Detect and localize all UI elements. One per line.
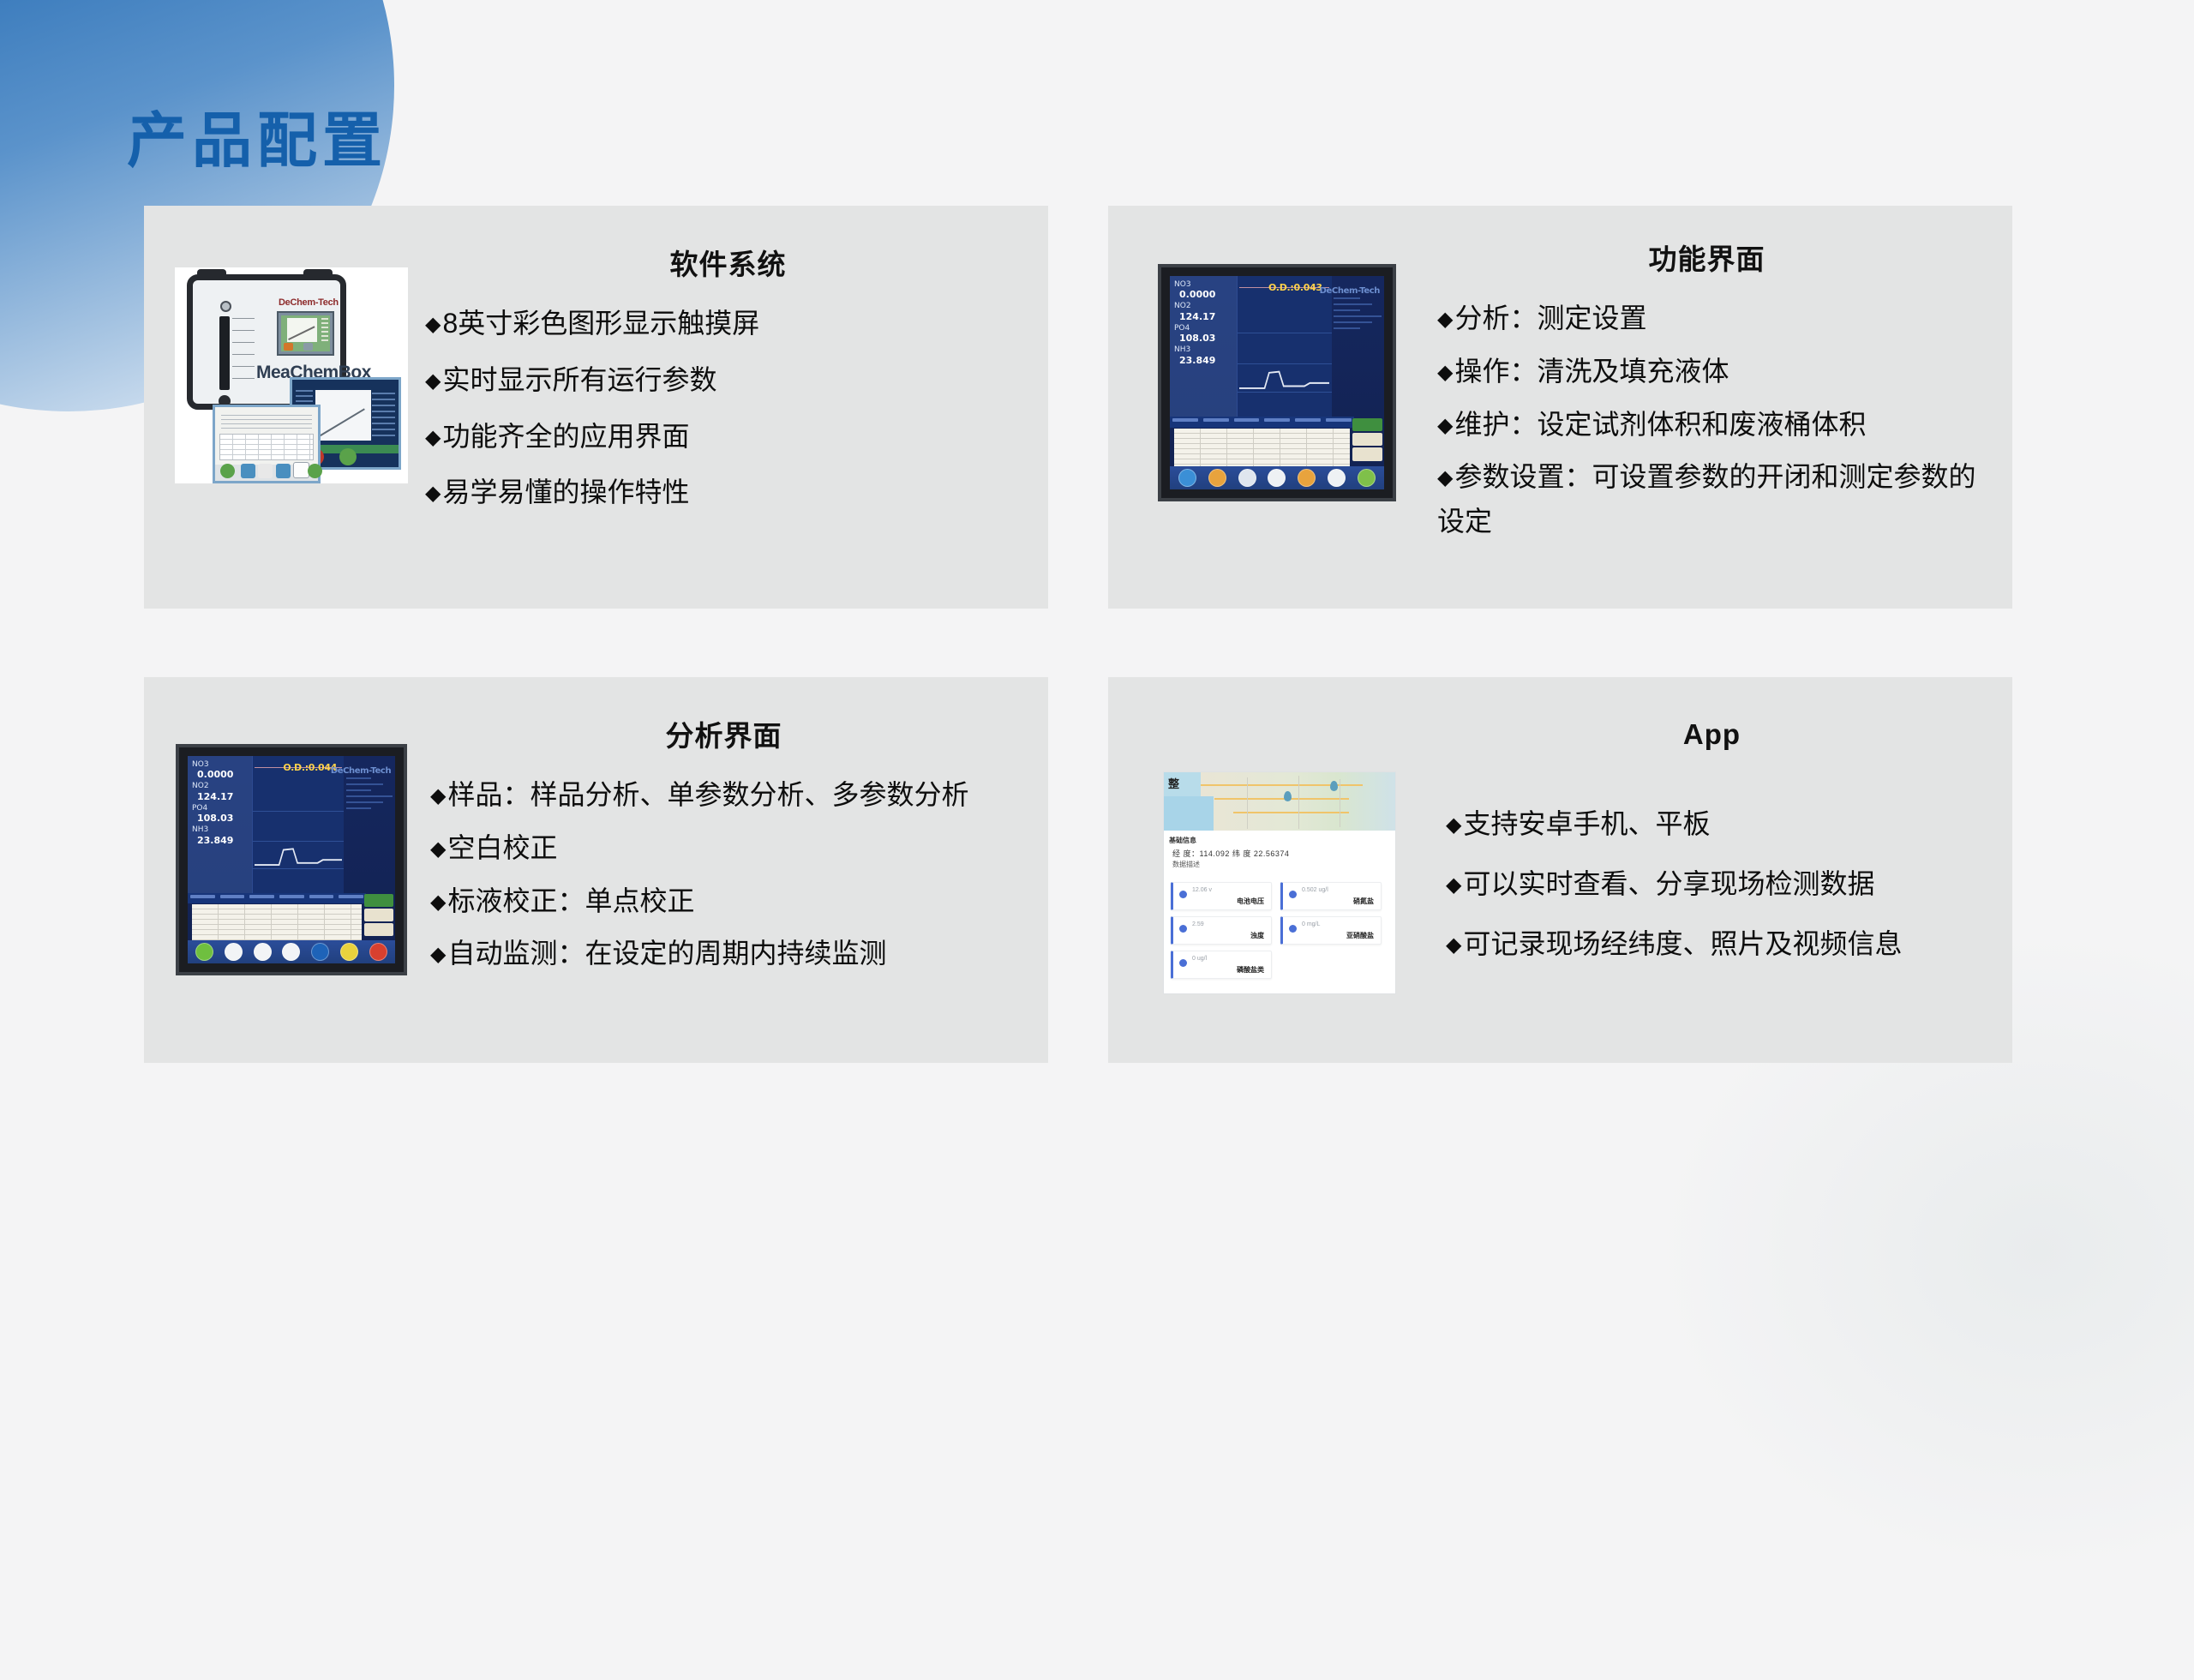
app-section-label: 基础信息 (1169, 836, 1196, 845)
bullet-list-app: ◆支持安卓手机、平板 ◆可以实时查看、分享现场检测数据 ◆可记录现场经纬度、照片… (1446, 802, 1978, 966)
bullet-diamond-icon: ◆ (1437, 466, 1453, 489)
dock-report-icon[interactable] (1238, 469, 1256, 487)
card-media-device-photo: DeChem-Tech MeaChemBox (144, 206, 420, 483)
metric-dot-icon (1289, 891, 1297, 898)
instrument-dock-bar[interactable] (1170, 466, 1384, 489)
list-item-label: 维护：设定试剂体积和废液桶体积 (1454, 409, 1866, 440)
page-title: 产品配置 (127, 111, 387, 171)
card-title-software-system: 软件系统 (451, 242, 1005, 283)
dock-settings-icon[interactable] (1298, 469, 1316, 487)
list-item-label: 标液校正：单点校正 (447, 885, 694, 916)
instrument-readings-panel: NO3 0.0000 NO2 124.17 PO4 108.03 NH3 23.… (188, 756, 252, 893)
reading-name: NH3 (1174, 346, 1237, 354)
list-item: ◆参数设置：可设置参数的开闭和测定参数的设定 (1437, 455, 1976, 544)
reading-name: PO4 (192, 805, 252, 813)
device-tick-marks (232, 318, 255, 390)
list-item: ◆样品：样品分析、单参数分析、多参数分析 (430, 773, 1017, 818)
list-item-label: 可以实时查看、分享现场检测数据 (1463, 868, 1874, 899)
bullet-diamond-icon: ◆ (430, 891, 446, 914)
card-app: 整 基础信息 经 度：114.092 纬 度 22.56374 数据描述 12.… (1108, 677, 2012, 1063)
bullet-list-software-system: ◆8英寸彩色图形显示触摸屏 ◆实时显示所有运行参数 ◆功能齐全的应用界面 ◆易学… (425, 302, 1005, 515)
dock-records-icon[interactable] (1328, 469, 1346, 487)
dock-blank-icon[interactable] (225, 943, 243, 961)
bullet-diamond-icon: ◆ (1437, 308, 1453, 331)
list-item: ◆实时显示所有运行参数 (425, 358, 1005, 403)
instrument-signal-graph (1237, 276, 1332, 417)
list-item: ◆自动监测：在设定的周期内持续监测 (430, 932, 1017, 976)
device-strip (219, 316, 230, 390)
reading-name: PO4 (1174, 325, 1237, 333)
metric-card[interactable]: 0.502 ug/l 硝氮盐 (1280, 882, 1382, 910)
instrument-side-buttons[interactable] (1352, 418, 1382, 465)
bullet-diamond-icon: ◆ (425, 426, 441, 449)
card-media-instrument-screen-analysis: NO3 0.0000 NO2 124.17 PO4 108.03 NH3 23.… (144, 677, 420, 975)
instrument-signal-graph (252, 756, 344, 893)
instrument-params-panel (1331, 276, 1385, 417)
metric-dot-icon (1179, 925, 1187, 933)
card-body-app: App ◆支持安卓手机、平板 ◆可以实时查看、分享现场检测数据 ◆可记录现场经纬… (1425, 677, 2012, 981)
app-header-label: 整 (1168, 775, 1179, 791)
instrument-table-header (1170, 417, 1354, 427)
list-item: ◆支持安卓手机、平板 (1446, 802, 1978, 847)
card-function-interface: NO3 0.0000 NO2 124.17 PO4 108.03 NH3 23.… (1108, 206, 2012, 609)
list-item-label: 实时显示所有运行参数 (442, 364, 716, 395)
card-body-analysis-interface: 分析界面 ◆样品：样品分析、单参数分析、多参数分析 ◆空白校正 ◆标液校正：单点… (420, 677, 1048, 985)
dock-play-icon[interactable] (1178, 469, 1196, 487)
reading-value: 23.849 (197, 835, 252, 846)
device-knob-icon (220, 301, 231, 312)
reading-value: 0.0000 (1179, 289, 1237, 300)
card-media-app-screenshot: 整 基础信息 经 度：114.092 纬 度 22.56374 数据描述 12.… (1108, 677, 1425, 994)
instrument-dock-bar[interactable] (188, 940, 395, 963)
bullet-diamond-icon: ◆ (1446, 813, 1461, 837)
list-item: ◆标液校正：单点校正 (430, 879, 1017, 924)
metric-value: 2.59 (1192, 921, 1204, 927)
list-item-label: 操作：清洗及填充液体 (1454, 356, 1729, 387)
metric-value: 0 mg/L (1302, 921, 1320, 927)
metric-card[interactable]: 0 mg/L 亚硝酸盐 (1280, 916, 1382, 945)
reading-name: NO3 (1174, 281, 1237, 289)
list-item-label: 参数设置：可设置参数的开闭和测定参数的设定 (1437, 461, 1975, 537)
app-screenshot: 整 基础信息 经 度：114.092 纬 度 22.56374 数据描述 12.… (1163, 771, 1396, 994)
reading-value: 23.849 (1179, 355, 1237, 366)
metric-name: 硝氮盐 (1353, 897, 1374, 906)
reading-value: 108.03 (197, 813, 252, 824)
metric-value: 0 ug/l (1192, 956, 1207, 962)
od-value-label: O.D.:0.044 (283, 762, 337, 773)
bullet-diamond-icon: ◆ (430, 837, 446, 861)
reading-name: NO3 (192, 761, 252, 769)
list-item-label: 功能齐全的应用界面 (442, 421, 689, 452)
list-item: ◆8英寸彩色图形显示触摸屏 (425, 302, 1005, 346)
list-item: ◆易学易懂的操作特性 (425, 471, 1005, 515)
app-metric-cards: 12.06 v 电池电压 0.502 ug/l 硝氮盐 2.59 浊度 (1171, 882, 1388, 979)
card-title-app: App (1446, 718, 1978, 751)
reading-name: NH3 (192, 826, 252, 834)
metric-card[interactable]: 2.59 浊度 (1171, 916, 1272, 945)
device-brand-label: DeChem-Tech (279, 297, 339, 308)
bullet-diamond-icon: ◆ (430, 784, 446, 807)
list-item: ◆可以实时查看、分享现场检测数据 (1446, 862, 1978, 907)
od-value-label: O.D.:0.043 (1268, 282, 1322, 293)
signal-curve-icon (1239, 363, 1330, 394)
reading-name: NO2 (192, 783, 252, 790)
instrument-params-panel (344, 756, 396, 893)
bullet-diamond-icon: ◆ (1437, 414, 1453, 437)
device-photo-meachembox: DeChem-Tech MeaChemBox (175, 267, 408, 483)
list-item: ◆空白校正 (430, 826, 1017, 871)
card-analysis-interface: NO3 0.0000 NO2 124.17 PO4 108.03 NH3 23.… (144, 677, 1048, 1063)
bullet-diamond-icon: ◆ (1446, 933, 1461, 957)
map-preview (1164, 772, 1395, 831)
app-coordinates-label: 经 度：114.092 纬 度 22.56374 (1172, 848, 1289, 859)
dock-start-icon[interactable] (195, 943, 213, 961)
metric-name: 磷酸盐类 (1237, 965, 1264, 975)
list-item: ◆操作：清洗及填充液体 (1437, 350, 1976, 394)
device-embedded-screen (277, 311, 334, 356)
metric-dot-icon (1289, 925, 1297, 933)
metric-name: 浊度 (1250, 931, 1264, 940)
dock-multi-param-icon[interactable] (311, 943, 329, 961)
dock-standard-icon[interactable] (254, 943, 272, 961)
card-body-function-interface: 功能界面 ◆分析：测定设置 ◆操作：清洗及填充液体 ◆维护：设定试剂体积和废液桶… (1418, 206, 2012, 553)
list-item-label: 自动监测：在设定的周期内持续监测 (447, 938, 886, 969)
list-item-label: 空白校正 (447, 832, 557, 863)
metric-dot-icon (1179, 891, 1187, 898)
bullet-list-function-interface: ◆分析：测定设置 ◆操作：清洗及填充液体 ◆维护：设定试剂体积和废液桶体积 ◆参… (1437, 297, 1976, 544)
metric-card[interactable]: 0 ug/l 磷酸盐类 (1171, 951, 1272, 979)
bullet-diamond-icon: ◆ (1446, 873, 1461, 897)
metric-dot-icon (1179, 959, 1187, 967)
device-ui-thumbnail-table (213, 405, 321, 483)
dock-sample-icon[interactable] (282, 943, 300, 961)
reading-value: 0.0000 (197, 769, 252, 780)
bullet-list-analysis-interface: ◆样品：样品分析、单参数分析、多参数分析 ◆空白校正 ◆标液校正：单点校正 ◆自… (430, 773, 1017, 976)
bullet-diamond-icon: ◆ (430, 943, 446, 966)
instrument-screen-photo-function: NO3 0.0000 NO2 124.17 PO4 108.03 NH3 23.… (1158, 264, 1396, 501)
metric-value: 12.06 v (1192, 887, 1212, 893)
instrument-table-header (188, 893, 366, 903)
app-subtitle-label: 数据描述 (1172, 860, 1200, 869)
bullet-diamond-icon: ◆ (425, 369, 441, 393)
list-item: ◆分析：测定设置 (1437, 297, 1976, 341)
list-item-label: 8英寸彩色图形显示触摸屏 (442, 308, 759, 339)
dock-maintenance-icon[interactable] (1268, 469, 1286, 487)
list-item-label: 可记录现场经纬度、照片及视频信息 (1463, 928, 1902, 959)
card-grid: DeChem-Tech MeaChemBox (144, 206, 2012, 1080)
list-item: ◆功能齐全的应用界面 (425, 415, 1005, 459)
list-item-label: 易学易懂的操作特性 (442, 477, 689, 507)
bullet-diamond-icon: ◆ (425, 482, 441, 505)
card-title-analysis-interface: 分析界面 (430, 713, 1017, 754)
instrument-results-table (192, 904, 362, 942)
metric-name: 电池电压 (1237, 897, 1264, 906)
instrument-results-table (1174, 429, 1350, 467)
list-item-label: 样品：样品分析、单参数分析、多参数分析 (447, 779, 968, 810)
signal-curve-icon (255, 841, 342, 871)
list-item: ◆维护：设定试剂体积和废液桶体积 (1437, 403, 1976, 447)
dock-pause-icon[interactable] (1208, 469, 1226, 487)
list-item-label: 分析：测定设置 (1454, 303, 1646, 333)
reading-value: 124.17 (1179, 311, 1237, 322)
reading-value: 124.17 (197, 791, 252, 802)
dock-exit-icon[interactable] (1358, 469, 1376, 487)
dock-monitor-icon[interactable] (340, 943, 358, 961)
instrument-side-buttons[interactable] (364, 894, 393, 939)
card-body-software-system: 软件系统 ◆8英寸彩色图形显示触摸屏 ◆实时显示所有运行参数 ◆功能齐全的应用界… (420, 206, 1048, 527)
card-title-function-interface: 功能界面 (1437, 237, 1976, 278)
card-software-system: DeChem-Tech MeaChemBox (144, 206, 1048, 609)
reading-name: NO2 (1174, 303, 1237, 310)
bullet-diamond-icon: ◆ (1437, 361, 1453, 384)
card-media-instrument-screen: NO3 0.0000 NO2 124.17 PO4 108.03 NH3 23.… (1108, 206, 1418, 501)
metric-card[interactable]: 12.06 v 电池电压 (1171, 882, 1272, 910)
metric-name: 亚硝酸盐 (1346, 931, 1374, 940)
reading-value: 108.03 (1179, 333, 1237, 344)
instrument-screen-photo-analysis: NO3 0.0000 NO2 124.17 PO4 108.03 NH3 23.… (176, 744, 407, 975)
list-item-label: 支持安卓手机、平板 (1463, 808, 1710, 839)
list-item: ◆可记录现场经纬度、照片及视频信息 (1446, 922, 1978, 967)
bullet-diamond-icon: ◆ (425, 313, 441, 336)
instrument-readings-panel: NO3 0.0000 NO2 124.17 PO4 108.03 NH3 23.… (1170, 276, 1237, 417)
metric-value: 0.502 ug/l (1302, 887, 1328, 893)
dock-stop-icon[interactable] (369, 943, 387, 961)
